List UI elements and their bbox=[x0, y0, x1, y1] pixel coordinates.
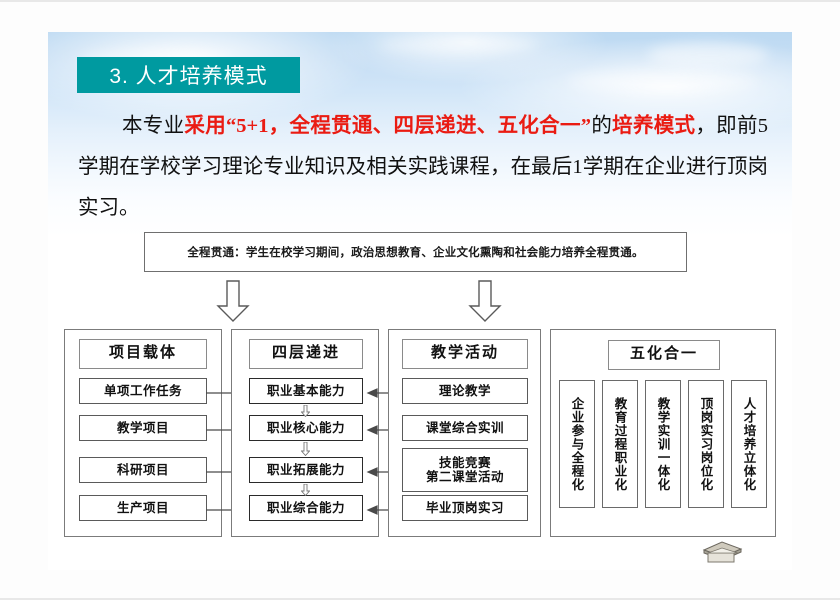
list-item-line1: 技能竞赛 bbox=[439, 456, 491, 470]
list-item-line2: 第二课堂活动 bbox=[426, 470, 504, 484]
vertical-item[interactable]: 人才培养立体化 bbox=[731, 380, 767, 508]
paragraph-segment-4-highlight: 培养模式 bbox=[612, 115, 695, 137]
body-paragraph: 本专业采用“5+1，全程贯通、四层递进、五化合一”的培养模式，即前5学期在学校学… bbox=[78, 106, 768, 229]
vertical-item[interactable]: 教学实训一体化 bbox=[645, 380, 681, 508]
panel-header-four-layer-progression: 四层递进 bbox=[249, 339, 363, 369]
vertical-item[interactable]: 顶岗实习岗位化 bbox=[688, 380, 724, 508]
list-item[interactable]: 毕业顶岗实习 bbox=[402, 495, 528, 521]
paragraph-segment-1: 本专业 bbox=[122, 115, 184, 137]
cloud-wisp bbox=[568, 72, 758, 90]
panel-header-project-carrier: 项目载体 bbox=[79, 339, 207, 369]
thin-down-arrow-icon bbox=[301, 442, 310, 458]
vertical-item-label: 顶岗实习岗位化 bbox=[697, 397, 716, 492]
list-item[interactable]: 科研项目 bbox=[79, 457, 207, 483]
vertical-item[interactable]: 企业参与全程化 bbox=[559, 380, 595, 508]
cloud-wisp bbox=[648, 42, 768, 68]
vertical-item-label: 人才培养立体化 bbox=[740, 397, 759, 492]
note-text: 全程贯通：学生在校学习期间，政治思想教育、企业文化熏陶和社会能力培养全程贯通。 bbox=[187, 244, 643, 260]
vertical-item-label: 教育过程职业化 bbox=[611, 397, 630, 492]
slide: 3. 人才培养模式 本专业采用“5+1，全程贯通、四层递进、五化合一”的培养模式… bbox=[48, 32, 792, 570]
panel-five-in-one: 五化合一 企业参与全程化 教育过程职业化 教学实训一体化 顶岗实习岗位化 人才培… bbox=[550, 329, 776, 537]
list-item[interactable]: 职业基本能力 bbox=[249, 378, 363, 404]
fat-down-arrow-icon bbox=[468, 280, 502, 322]
vertical-item-label: 教学实训一体化 bbox=[654, 397, 673, 492]
list-item[interactable]: 课堂综合实训 bbox=[402, 415, 528, 441]
list-item[interactable]: 教学项目 bbox=[79, 415, 207, 441]
panel-header-teaching-activities: 教学活动 bbox=[402, 339, 528, 369]
cloud-wisp bbox=[378, 37, 538, 53]
panel-header-five-in-one: 五化合一 bbox=[608, 340, 720, 370]
panel-teaching-activities: 教学活动 理论教学 课堂综合实训 技能竞赛 第二课堂活动 毕业顶岗实习 bbox=[388, 329, 541, 537]
page-root: 3. 人才培养模式 本专业采用“5+1，全程贯通、四层递进、五化合一”的培养模式… bbox=[0, 0, 840, 600]
list-item[interactable]: 单项工作任务 bbox=[79, 378, 207, 404]
panel-four-layer-progression: 四层递进 职业基本能力 职业核心能力 职业拓展能力 职业综合能力 bbox=[231, 329, 379, 537]
list-item[interactable]: 技能竞赛 第二课堂活动 bbox=[402, 448, 528, 492]
list-item[interactable]: 职业拓展能力 bbox=[249, 457, 363, 483]
panel-project-carrier: 项目载体 单项工作任务 教学项目 科研项目 生产项目 bbox=[64, 329, 222, 537]
vertical-item[interactable]: 教育过程职业化 bbox=[602, 380, 638, 508]
fat-down-arrow-icon bbox=[216, 280, 250, 322]
books-stack-icon bbox=[700, 538, 744, 564]
thin-down-arrow-icon bbox=[301, 483, 310, 499]
section-title-banner: 3. 人才培养模式 bbox=[77, 57, 300, 93]
thin-down-arrow-icon bbox=[301, 404, 310, 420]
paragraph-segment-2-highlight: 采用“5+1，全程贯通、四层递进、五化合一” bbox=[184, 115, 591, 137]
list-item[interactable]: 生产项目 bbox=[79, 495, 207, 521]
paragraph-segment-3: 的 bbox=[591, 115, 612, 137]
page-title: 3. 人才培养模式 bbox=[109, 60, 267, 90]
list-item[interactable]: 理论教学 bbox=[402, 378, 528, 404]
note-box: 全程贯通：学生在校学习期间，政治思想教育、企业文化熏陶和社会能力培养全程贯通。 bbox=[144, 232, 687, 272]
vertical-item-label: 企业参与全程化 bbox=[568, 397, 587, 492]
